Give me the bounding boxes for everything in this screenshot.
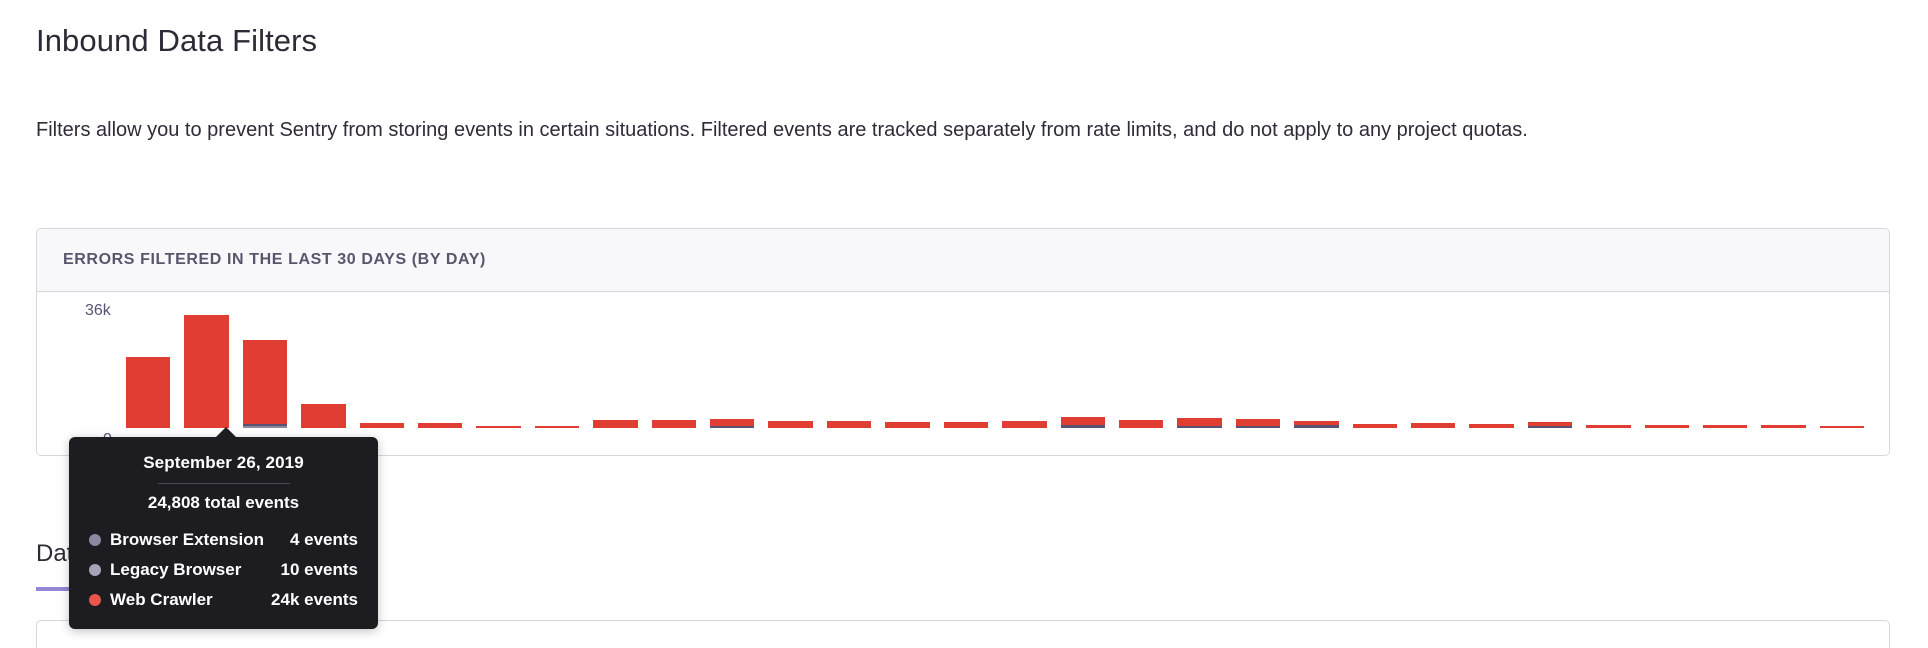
bar-stack[interactable] (184, 315, 228, 429)
tooltip-series-name: Browser Extension (110, 530, 264, 550)
bar-slot[interactable] (1054, 306, 1112, 428)
page-description: Filters allow you to prevent Sentry from… (36, 115, 1871, 146)
bar-slot[interactable] (1579, 306, 1637, 428)
bar-slot[interactable] (1170, 306, 1228, 428)
bar-segment-web-crawler (1761, 425, 1805, 428)
tooltip-row: Legacy Browser10 events (69, 555, 378, 585)
bar-slot[interactable] (878, 306, 936, 428)
bar-slot[interactable] (469, 306, 527, 428)
bar-segment-web-crawler (476, 426, 520, 428)
bar-segment-web-crawler (1411, 423, 1455, 428)
bar-stack[interactable] (418, 423, 462, 428)
bar-stack[interactable] (1528, 422, 1572, 428)
tooltip-series-list: Browser Extension4 eventsLegacy Browser1… (69, 525, 378, 615)
bar-stack[interactable] (1119, 420, 1163, 428)
bar-slot[interactable] (411, 306, 469, 428)
bar-stack[interactable] (1703, 425, 1747, 428)
bar-stack[interactable] (360, 423, 404, 428)
tooltip-series-value: 4 events (290, 530, 358, 550)
bar-stack[interactable] (1002, 421, 1046, 429)
bar-segment-legacy-browser (1294, 425, 1338, 428)
bar-segment-web-crawler (944, 422, 988, 428)
bar-segment-web-crawler (1645, 425, 1689, 428)
bar-stack[interactable] (1411, 423, 1455, 428)
bar-slot[interactable] (1462, 306, 1520, 428)
bar-stack[interactable] (593, 420, 637, 428)
bar-segment-web-crawler (535, 426, 579, 428)
bar-segment-web-crawler (243, 340, 287, 424)
bar-stack[interactable] (710, 419, 754, 429)
bar-slot[interactable] (1287, 306, 1345, 428)
bar-segment-web-crawler (418, 423, 462, 428)
bar-stack[interactable] (1236, 419, 1280, 429)
bar-segment-web-crawler (885, 422, 929, 428)
bar-segment-web-crawler (1119, 420, 1163, 428)
bar-slot[interactable] (1229, 306, 1287, 428)
chart-tooltip: September 26, 2019 24,808 total events B… (69, 437, 378, 629)
bar-segment-web-crawler (126, 357, 170, 428)
bar-slot[interactable] (761, 306, 819, 428)
bar-stack[interactable] (1294, 421, 1338, 428)
bar-segment-web-crawler (1469, 424, 1513, 428)
bar-slot[interactable] (528, 306, 586, 428)
bar-segment-web-crawler (1820, 426, 1864, 428)
bar-slot[interactable] (703, 306, 761, 428)
tooltip-series-value: 24k events (271, 590, 358, 610)
tooltip-series-name: Legacy Browser (110, 560, 241, 580)
tooltip-series-value: 10 events (281, 560, 359, 580)
bar-stack[interactable] (1061, 417, 1105, 428)
tooltip-row: Browser Extension4 events (69, 525, 378, 555)
bar-segment-web-crawler (768, 421, 812, 429)
bar-segment-legacy-browser (1528, 426, 1572, 428)
bar-stack[interactable] (1586, 425, 1630, 428)
bar-slot[interactable] (236, 306, 294, 428)
bar-segment-web-crawler (1353, 424, 1397, 428)
bar-segment-web-crawler (827, 421, 871, 429)
tooltip-date: September 26, 2019 (69, 453, 378, 483)
bar-stack[interactable] (944, 422, 988, 428)
bar-slot[interactable] (1112, 306, 1170, 428)
bar-segment-web-crawler (593, 420, 637, 428)
bar-segment-legacy-browser (1236, 426, 1280, 428)
series-color-dot-icon (89, 534, 101, 546)
bar-stack[interactable] (885, 422, 929, 428)
series-color-dot-icon (89, 594, 101, 606)
bar-segment-web-crawler (360, 423, 404, 428)
series-color-dot-icon (89, 564, 101, 576)
bar-slot[interactable] (1754, 306, 1812, 428)
bar-slot[interactable] (586, 306, 644, 428)
bar-stack[interactable] (827, 421, 871, 429)
bar-stack[interactable] (243, 340, 287, 428)
bar-stack[interactable] (1353, 424, 1397, 428)
bar-slot[interactable] (1404, 306, 1462, 428)
tooltip-row: Web Crawler24k events (69, 585, 378, 615)
bar-segment-web-crawler (1177, 418, 1221, 426)
bar-segment-web-crawler (652, 420, 696, 428)
bar-segment-legacy-browser (1061, 425, 1105, 428)
bar-segment-web-crawler (1586, 425, 1630, 428)
bar-slot[interactable] (1638, 306, 1696, 428)
errors-filtered-chart-panel: ERRORS FILTERED IN THE LAST 30 DAYS (BY … (36, 228, 1890, 456)
tooltip-arrow-icon (215, 427, 237, 438)
bar-slot[interactable] (294, 306, 352, 428)
bar-stack[interactable] (1469, 424, 1513, 428)
tooltip-divider (158, 483, 290, 484)
bar-slot[interactable] (1346, 306, 1404, 428)
chart-panel-title: ERRORS FILTERED IN THE LAST 30 DAYS (BY … (63, 251, 486, 269)
bar-segment-legacy-browser (1177, 426, 1221, 428)
tooltip-total-events: 24,808 total events (69, 493, 378, 525)
bar-stack[interactable] (768, 421, 812, 429)
bar-chart-plot[interactable] (119, 306, 1871, 428)
bar-stack[interactable] (535, 426, 579, 428)
bar-segment-legacy-browser (710, 426, 754, 428)
bar-segment-web-crawler (1703, 425, 1747, 428)
bar-stack[interactable] (1820, 426, 1864, 428)
y-axis-max-label: 36k (85, 302, 111, 320)
bar-segment-web-crawler (1002, 421, 1046, 429)
bar-segment-web-crawler (1061, 417, 1105, 425)
tooltip-series-name: Web Crawler (110, 590, 213, 610)
bar-slot[interactable] (1813, 306, 1871, 428)
bar-stack[interactable] (1645, 425, 1689, 428)
bar-slot[interactable] (645, 306, 703, 428)
bar-slot[interactable] (1696, 306, 1754, 428)
bar-stack[interactable] (301, 404, 345, 428)
bar-segment-web-crawler (710, 419, 754, 427)
bar-slot[interactable] (937, 306, 995, 428)
bar-slot[interactable] (119, 306, 177, 428)
chart-panel-header: ERRORS FILTERED IN THE LAST 30 DAYS (BY … (37, 229, 1889, 292)
page-title: Inbound Data Filters (36, 22, 317, 59)
bar-slot[interactable] (1521, 306, 1579, 428)
bar-stack[interactable] (126, 357, 170, 428)
bar-slot[interactable] (353, 306, 411, 428)
bar-stack[interactable] (476, 426, 520, 428)
chart-body: 36k 0 (37, 292, 1889, 455)
bar-slot[interactable] (820, 306, 878, 428)
bar-slot[interactable] (995, 306, 1053, 428)
bar-segment-web-crawler (184, 315, 228, 429)
bar-stack[interactable] (1761, 425, 1805, 428)
bar-segment-web-crawler (301, 404, 345, 428)
bar-segment-web-crawler (1236, 419, 1280, 427)
bar-stack[interactable] (652, 420, 696, 428)
bar-stack[interactable] (1177, 418, 1221, 428)
page-root: Inbound Data Filters Filters allow you t… (0, 0, 1928, 648)
bar-slot[interactable] (177, 306, 235, 428)
bar-segment-browser-extension (243, 426, 287, 428)
